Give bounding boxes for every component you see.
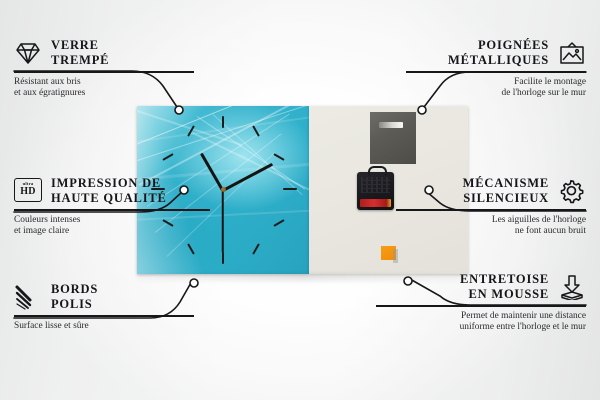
- callout-rule: [14, 71, 194, 73]
- connector-endpoint: [175, 106, 183, 114]
- callout-rule: [14, 315, 194, 317]
- callout-bords-polis: BORDS POLIS Surface lisse et sûre: [14, 282, 194, 332]
- callout-description: Surface lisse et sûre: [14, 321, 194, 333]
- callout-rule: [396, 209, 586, 211]
- callout-verre-trempe: VERRE TREMPÉ Résistant aux bris et aux é…: [14, 38, 194, 100]
- ultra-hd-icon-main: HD: [20, 187, 36, 197]
- callout-title: MÉCANISME SILENCIEUX: [463, 176, 549, 205]
- callout-title: ENTRETOISE EN MOUSSE: [460, 272, 549, 301]
- gear-icon: [558, 178, 586, 204]
- callout-description: Couleurs intenses et image claire: [14, 215, 210, 238]
- callout-rule: [14, 209, 210, 211]
- ultra-hd-icon: ultra HD: [14, 178, 42, 204]
- callout-header: ENTRETOISE EN MOUSSE: [376, 272, 586, 301]
- callout-header: VERRE TREMPÉ: [14, 38, 194, 67]
- callout-description: Permet de maintenir une distance uniform…: [376, 311, 586, 334]
- callout-impression-haute-qualite: ultra HD IMPRESSION DE HAUTE QUALITÉ Cou…: [14, 176, 210, 238]
- callout-description: Résistant aux bris et aux égratignures: [14, 77, 194, 100]
- callout-mecanisme-silencieux: MÉCANISME SILENCIEUX Les aiguilles de l'…: [396, 176, 586, 238]
- callout-entretoise-en-mousse: ENTRETOISE EN MOUSSE Permet de maintenir…: [376, 272, 586, 334]
- callout-rule: [406, 71, 586, 73]
- connector-endpoint: [418, 106, 426, 114]
- callout-title: BORDS POLIS: [51, 282, 98, 311]
- infographic-canvas: VERRE TREMPÉ Résistant aux bris et aux é…: [0, 0, 600, 400]
- callout-rule: [376, 305, 586, 307]
- polished-edges-icon: [14, 284, 42, 310]
- callout-header: ultra HD IMPRESSION DE HAUTE QUALITÉ: [14, 176, 210, 205]
- callout-title: IMPRESSION DE HAUTE QUALITÉ: [51, 176, 167, 205]
- diamond-icon: [14, 40, 42, 66]
- picture-frame-icon: [558, 40, 586, 66]
- callout-description: Facilite le montage de l'horloge sur le …: [406, 77, 586, 100]
- callout-header: POIGNÉES MÉTALLIQUES: [406, 38, 586, 67]
- callout-description: Les aiguilles de l'horloge ne font aucun…: [396, 215, 586, 238]
- callout-title: VERRE TREMPÉ: [51, 38, 109, 67]
- callout-title: POIGNÉES MÉTALLIQUES: [448, 38, 549, 67]
- callout-poignees-metalliques: POIGNÉES MÉTALLIQUES Facilite le montage…: [406, 38, 586, 100]
- callout-header: MÉCANISME SILENCIEUX: [396, 176, 586, 205]
- callout-header: BORDS POLIS: [14, 282, 194, 311]
- spacer-arrow-icon: [558, 274, 586, 300]
